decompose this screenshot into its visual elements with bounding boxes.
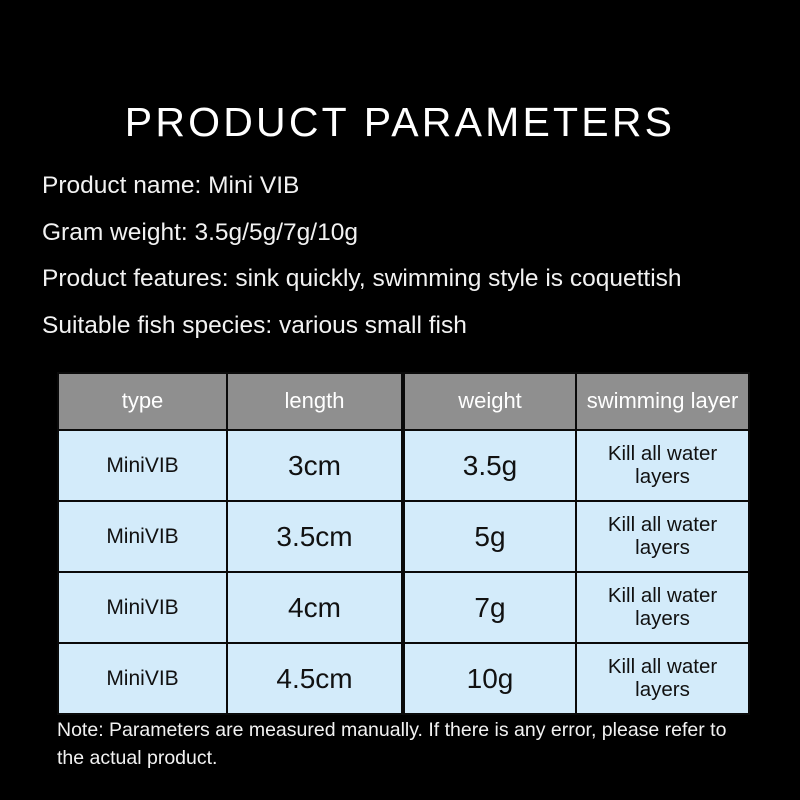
table-row: MiniVIB 3.5cm 5g Kill all water layers: [58, 501, 749, 572]
column-header-swimming-layer: swimming layer: [576, 373, 749, 430]
table-row: MiniVIB 3cm 3.5g Kill all water layers: [58, 430, 749, 501]
page-title: PRODUCT PARAMETERS: [0, 100, 800, 145]
cell-swimming-layer: Kill all water layers: [576, 501, 749, 572]
cell-weight: 5g: [403, 501, 576, 572]
cell-type: MiniVIB: [58, 430, 227, 501]
spec-line-product-name: Product name: Mini VIB: [42, 173, 772, 200]
cell-length: 4.5cm: [227, 643, 403, 714]
cell-length: 4cm: [227, 572, 403, 643]
cell-weight: 10g: [403, 643, 576, 714]
cell-type: MiniVIB: [58, 643, 227, 714]
cell-swimming-layer: Kill all water layers: [576, 430, 749, 501]
cell-type: MiniVIB: [58, 501, 227, 572]
product-parameters-page: PRODUCT PARAMETERS Product name: Mini VI…: [0, 0, 800, 800]
cell-swimming-layer: Kill all water layers: [576, 572, 749, 643]
spec-line-gram-weight: Gram weight: 3.5g/5g/7g/10g: [42, 220, 772, 247]
cell-weight: 3.5g: [403, 430, 576, 501]
cell-length: 3cm: [227, 430, 403, 501]
cell-swimming-layer: Kill all water layers: [576, 643, 749, 714]
table-row: MiniVIB 4cm 7g Kill all water layers: [58, 572, 749, 643]
cell-weight: 7g: [403, 572, 576, 643]
column-header-length: length: [227, 373, 403, 430]
table-row: MiniVIB 4.5cm 10g Kill all water layers: [58, 643, 749, 714]
cell-length: 3.5cm: [227, 501, 403, 572]
specification-table: type length weight swimming layer MiniVI…: [57, 372, 750, 715]
cell-type: MiniVIB: [58, 572, 227, 643]
table-header-row: type length weight swimming layer: [58, 373, 749, 430]
note-text: Note: Parameters are measured manually. …: [57, 717, 757, 772]
column-header-weight: weight: [403, 373, 576, 430]
spec-line-suitable-fish-species: Suitable fish species: various small fis…: [42, 313, 772, 340]
spec-line-product-features: Product features: sink quickly, swimming…: [42, 266, 772, 293]
column-header-type: type: [58, 373, 227, 430]
